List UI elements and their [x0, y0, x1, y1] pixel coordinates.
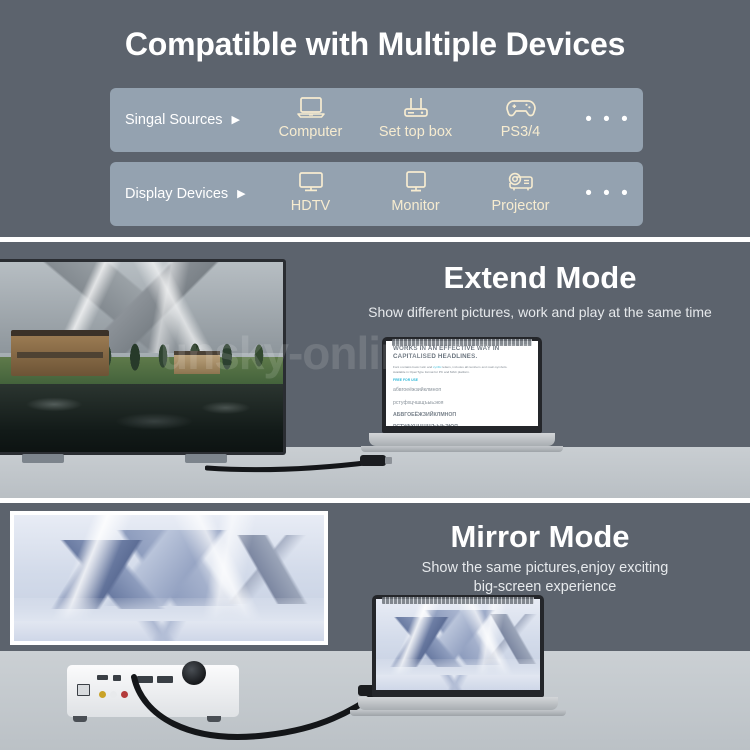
hdmi-plug: [360, 455, 386, 466]
keyboard: [382, 597, 533, 604]
device-item-set-top-box[interactable]: Set top box: [363, 88, 468, 152]
laptop-base-edge: [350, 710, 567, 716]
tv-screen-image: [0, 262, 283, 452]
laptop-keyboard-deck: [358, 697, 558, 710]
laptop-screen-image: [376, 599, 540, 690]
laptop-keyboard-deck: [369, 433, 555, 446]
device-item-hdtv[interactable]: HDTV: [258, 162, 363, 226]
device-caption: Projector: [491, 198, 549, 214]
specimen-cyr-upper-2: РСТУФХЦЧШЩЪЫЬЭЮЯ: [393, 424, 531, 426]
laptop-lid: WORKS IN AN EFFECTIVE WAY IN CAPITALISED…: [382, 337, 542, 433]
mirror-mode-subtitle: Show the same pictures,enjoy exciting bi…: [350, 559, 740, 597]
specimen-body-2: letters, includes all numbers and main s…: [442, 365, 508, 369]
laptop-mirror: [372, 595, 544, 716]
projector-foot-left: [73, 716, 87, 722]
specimen-cyr-lower: абвгоеёжзийклмноп: [393, 387, 531, 394]
laptop-icon: [296, 93, 326, 123]
specimen-cyr-lower-2: рстуфхцчшщъыьэюя: [393, 400, 531, 407]
device-caption: HDTV: [291, 198, 330, 214]
specimen-heading: WORKS IN AN EFFECTIVE WAY IN CAPITALISED…: [393, 345, 531, 361]
keyboard: [392, 339, 533, 346]
laptop-extend: WORKS IN AN EFFECTIVE WAY IN CAPITALISED…: [382, 337, 542, 452]
extend-mode-section: Extend Mode Show different pictures, wor…: [0, 242, 750, 498]
monitor-icon: [401, 167, 431, 197]
projector-icon: [505, 167, 537, 197]
laptop-screen-extend: WORKS IN AN EFFECTIVE WAY IN CAPITALISED…: [386, 341, 538, 426]
television: [0, 259, 286, 455]
device-item-projector[interactable]: Projector: [468, 162, 573, 226]
mirror-subtitle-line-1: Show the same pictures,enjoy exciting: [350, 559, 740, 578]
arrow-right-icon: ▶: [237, 189, 245, 200]
signal-sources-items: Computer Set top box: [258, 88, 573, 152]
projection-screen-image: [14, 515, 324, 641]
page-title: Compatible with Multiple Devices: [0, 26, 750, 63]
extend-mode-subtitle: Show different pictures, work and play a…: [330, 304, 750, 320]
tv-stand-left: [22, 454, 64, 463]
specimen-cyr-upper: АБВГОЕЁЖЗИЙКЛМНОП: [393, 412, 531, 419]
arrow-right-icon: ▶: [232, 115, 240, 126]
compatibility-section: Compatible with Multiple Devices Singal …: [0, 0, 750, 240]
row-label-text: Display Devices: [125, 186, 228, 202]
projection-screen: [10, 511, 328, 645]
extend-mode-title: Extend Mode: [330, 260, 750, 296]
specimen-body-1: Font contains basic latin and: [393, 365, 433, 369]
display-devices-label: Display Devices ▶: [110, 186, 258, 202]
row-label-text: Singal Sources: [125, 112, 223, 128]
display-devices-panel: Display Devices ▶ HDTV: [110, 162, 643, 226]
signal-sources-panel: Singal Sources ▶ Computer: [110, 88, 643, 152]
router-icon: [401, 93, 431, 123]
laptop-lid: [372, 595, 544, 697]
specimen-body-3: Available in OpenType format for PC and …: [393, 370, 470, 374]
laptop-screen-mirror: [376, 599, 540, 690]
signal-sources-label: Singal Sources ▶: [110, 112, 258, 128]
more-devices-indicator: • • •: [573, 183, 643, 205]
device-caption: Set top box: [379, 124, 452, 140]
mirror-mode-section: Mirror Mode Show the same pictures,enjoy…: [0, 503, 750, 750]
specimen-cyrillic-link: cyrillic: [433, 365, 441, 369]
font-specimen-page: WORKS IN AN EFFECTIVE WAY IN CAPITALISED…: [386, 341, 538, 426]
device-caption: Computer: [279, 124, 343, 140]
specimen-body: Font contains basic latin and cyrillic l…: [393, 365, 531, 374]
device-item-monitor[interactable]: Monitor: [363, 162, 468, 226]
specimen-free-badge: FREE FOR USE: [393, 378, 531, 382]
device-caption: PS3/4: [501, 124, 541, 140]
hdtv-icon: [296, 167, 326, 197]
product-infographic: Compatible with Multiple Devices Singal …: [0, 0, 750, 750]
laptop-base-edge: [361, 446, 563, 452]
more-devices-indicator: • • •: [573, 109, 643, 131]
device-item-computer[interactable]: Computer: [258, 88, 363, 152]
display-devices-items: HDTV Monitor: [258, 162, 573, 226]
device-caption: Monitor: [391, 198, 439, 214]
device-item-ps3-ps4[interactable]: PS3/4: [468, 88, 573, 152]
mirror-mode-title: Mirror Mode: [330, 519, 750, 555]
gamepad-icon: [505, 93, 537, 123]
